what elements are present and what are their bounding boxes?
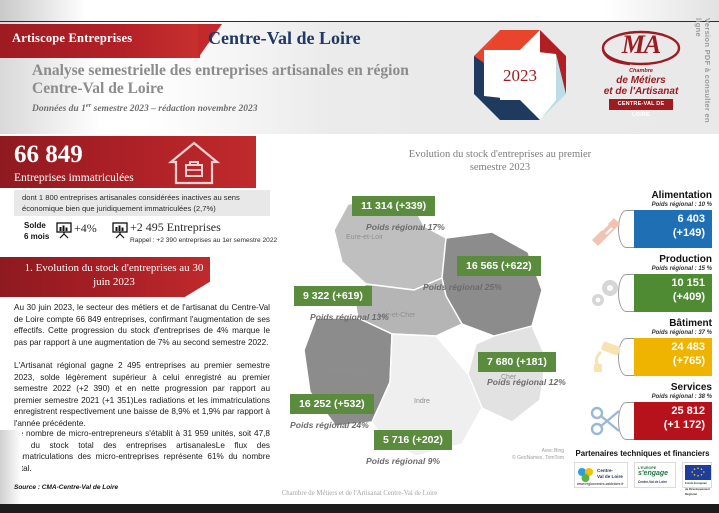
sector-count-services: 25 812 bbox=[634, 404, 705, 418]
partner-region-text: Centre- Val de Loire bbox=[597, 468, 623, 479]
poids-indre-et-loire: Poids régional 24% bbox=[290, 420, 369, 430]
sector-poids-alimentation: Poids régional : 10 % bbox=[588, 202, 712, 208]
key-stat-number: 66 849 bbox=[14, 141, 83, 169]
cma-logo: MA Chambre de Métiers et de l'Artisanat … bbox=[600, 28, 682, 120]
sector-count-batiment: 24 483 bbox=[634, 340, 705, 354]
top-white-band bbox=[0, 0, 719, 22]
sector-value-batiment: 24 483 (+765) bbox=[634, 338, 712, 376]
sector-delta-alimentation: (+149) bbox=[634, 226, 705, 240]
cma-line-1: Chambre bbox=[600, 68, 682, 74]
sector-delta-production: (+409) bbox=[634, 290, 705, 304]
sector-card-services: Services Poids régional : 38 % 25 812 (+… bbox=[588, 382, 712, 440]
footer-bar bbox=[0, 504, 719, 513]
sector-poids-batiment: Poids régional : 37 % bbox=[588, 330, 712, 336]
body-paragraph-1: Au 30 juin 2023, le secteur des métiers … bbox=[14, 302, 270, 348]
callout-indre-et-loire: 16 252 (+532) bbox=[290, 394, 374, 414]
sector-name-alimentation: Alimentation bbox=[588, 190, 712, 201]
partner-region-line-2: Val de Loire bbox=[597, 474, 623, 479]
solde-line-2: 6 mois bbox=[24, 232, 49, 241]
poids-indre: Poids régional 9% bbox=[366, 456, 440, 466]
baguette-icon bbox=[588, 212, 624, 246]
subtitle-prefix: Données du 1 bbox=[32, 104, 86, 114]
sector-card-production: Production Poids régional : 15 % 10 151 … bbox=[588, 254, 712, 312]
eu-flag-icon bbox=[685, 465, 711, 480]
sector-poids-services: Poids régional : 38 % bbox=[588, 394, 712, 400]
section-title: 1. Evolution du stock d'entreprises au 3… bbox=[18, 261, 210, 289]
poids-eure-et-loir: Poids régional 17% bbox=[366, 222, 445, 232]
map-credit-line-1: Avec Bing bbox=[542, 448, 564, 454]
sector-value-alimentation: 6 403 (+149) bbox=[634, 210, 712, 248]
sector-delta-batiment: (+765) bbox=[634, 354, 705, 368]
solde-percent-value: +4% bbox=[74, 221, 97, 236]
partner-europe-line-2: s'engage bbox=[638, 471, 668, 477]
sector-value-production: 10 151 (+409) bbox=[634, 274, 712, 312]
sector-name-services: Services bbox=[588, 382, 712, 393]
sector-name-batiment: Bâtiment bbox=[588, 318, 712, 329]
dept-label-indre-et-loire: Indre-et-Loire bbox=[328, 368, 370, 375]
online-pdf-note: Version PDF à consulter en ligne bbox=[694, 18, 712, 138]
region-title: Centre-Val de Loire bbox=[208, 28, 361, 49]
partner-region-line-1: Centre- bbox=[597, 468, 613, 473]
sector-card-batiment: Bâtiment Poids régional : 37 % 24 483 (+… bbox=[588, 318, 712, 376]
dept-label-eure-et-loir: Eure-et-Loir bbox=[346, 234, 383, 241]
body-paragraph-2: L'Artisanat régional gagne 2 495 entrepr… bbox=[14, 360, 270, 430]
sector-name-production: Production bbox=[588, 254, 712, 265]
map-credit-line-2: © GeoNames, TomTom bbox=[512, 455, 564, 461]
partner-logo-europe: L'EUROPE s'engage Centre-Val de Loire bbox=[634, 462, 676, 488]
year-octagon-logo: 2023 bbox=[470, 26, 570, 124]
cma-line-2: de Métiers bbox=[600, 75, 682, 86]
callout-eure-et-loir: 11 314 (+339) bbox=[352, 196, 435, 216]
callout-loir-et-cher: 9 322 (+619) bbox=[294, 286, 372, 306]
cma-monogram: MA bbox=[600, 30, 682, 60]
infographic-page: Artiscope Entreprises Centre-Val de Loir… bbox=[0, 0, 719, 513]
gears-icon bbox=[588, 276, 624, 310]
sector-poids-production: Poids régional : 15 % bbox=[588, 266, 712, 272]
chart-easel-icon bbox=[56, 222, 72, 239]
scissors-icon bbox=[588, 404, 624, 438]
partner-region-url: www.regioncentre-valdeloire.fr bbox=[577, 482, 624, 488]
callout-cher: 7 680 (+181) bbox=[478, 352, 556, 372]
callout-loiret: 16 565 (+622) bbox=[457, 256, 541, 276]
partner-logo-region: Centre- Val de Loire www.regioncentre-va… bbox=[574, 462, 628, 488]
dept-label-indre: Indre bbox=[414, 398, 430, 405]
partner-europe-line-3: Centre-Val de Loire bbox=[638, 480, 667, 486]
sector-value-services: 25 812 (+1 172) bbox=[634, 402, 712, 440]
poids-loir-et-cher: Poids régional 13% bbox=[310, 312, 389, 322]
house-briefcase-icon bbox=[168, 140, 220, 186]
sector-delta-services: (+1 172) bbox=[634, 418, 705, 432]
year-label: 2023 bbox=[470, 66, 570, 86]
poids-cher: Poids régional 12% bbox=[487, 377, 566, 387]
chart-easel-icon-2 bbox=[112, 222, 128, 239]
poids-loiret: Poids régional 25% bbox=[423, 282, 502, 292]
sector-count-alimentation: 6 403 bbox=[634, 212, 705, 226]
inactive-note-text: dont 1 800 entreprises artisanales consi… bbox=[22, 192, 270, 214]
page-title: Analyse semestrielle des entreprises art… bbox=[32, 62, 462, 98]
sector-count-production: 10 151 bbox=[634, 276, 705, 290]
cma-region-badge: CENTRE-VAL DE LOIRE bbox=[609, 99, 673, 110]
sector-card-alimentation: Alimentation Poids régional : 10 % 6 403… bbox=[588, 190, 712, 248]
solde-rappel-note: Rappel : +2 390 entreprises au 1er semes… bbox=[130, 237, 277, 244]
key-stat-label: Entreprises immatriculées bbox=[14, 172, 134, 184]
footer-text: Chambre de Métiers et de l'Artisanat Cen… bbox=[0, 490, 719, 497]
subtitle-rest: semestre 2023 – rédaction novembre 2023 bbox=[91, 104, 257, 114]
map-title: Evolution du stock d'entreprises au prem… bbox=[395, 148, 605, 174]
paint-roller-icon bbox=[588, 340, 624, 374]
solde-entreprises-value: +2 495 Entreprises bbox=[130, 220, 221, 235]
body-paragraph-3: Le nombre de micro-entrepreneurs s'établ… bbox=[14, 428, 270, 474]
solde-label: Solde6 mois bbox=[24, 221, 49, 242]
brand-ribbon-label: Artiscope Entreprises bbox=[12, 31, 132, 46]
partner-logo-feder: Fonds Européen de Développement Régional bbox=[682, 462, 712, 488]
partners-title: Partenaires techniques et financiers bbox=[570, 449, 715, 458]
cma-line-3: et de l'Artisanat bbox=[600, 86, 682, 97]
callout-indre: 5 716 (+202) bbox=[374, 430, 452, 450]
page-subtitle: Données du 1er semestre 2023 – rédaction… bbox=[32, 102, 258, 114]
map-attribution: Avec Bing © GeoNames, TomTom bbox=[492, 448, 564, 462]
solde-line-1: Solde bbox=[24, 221, 46, 230]
